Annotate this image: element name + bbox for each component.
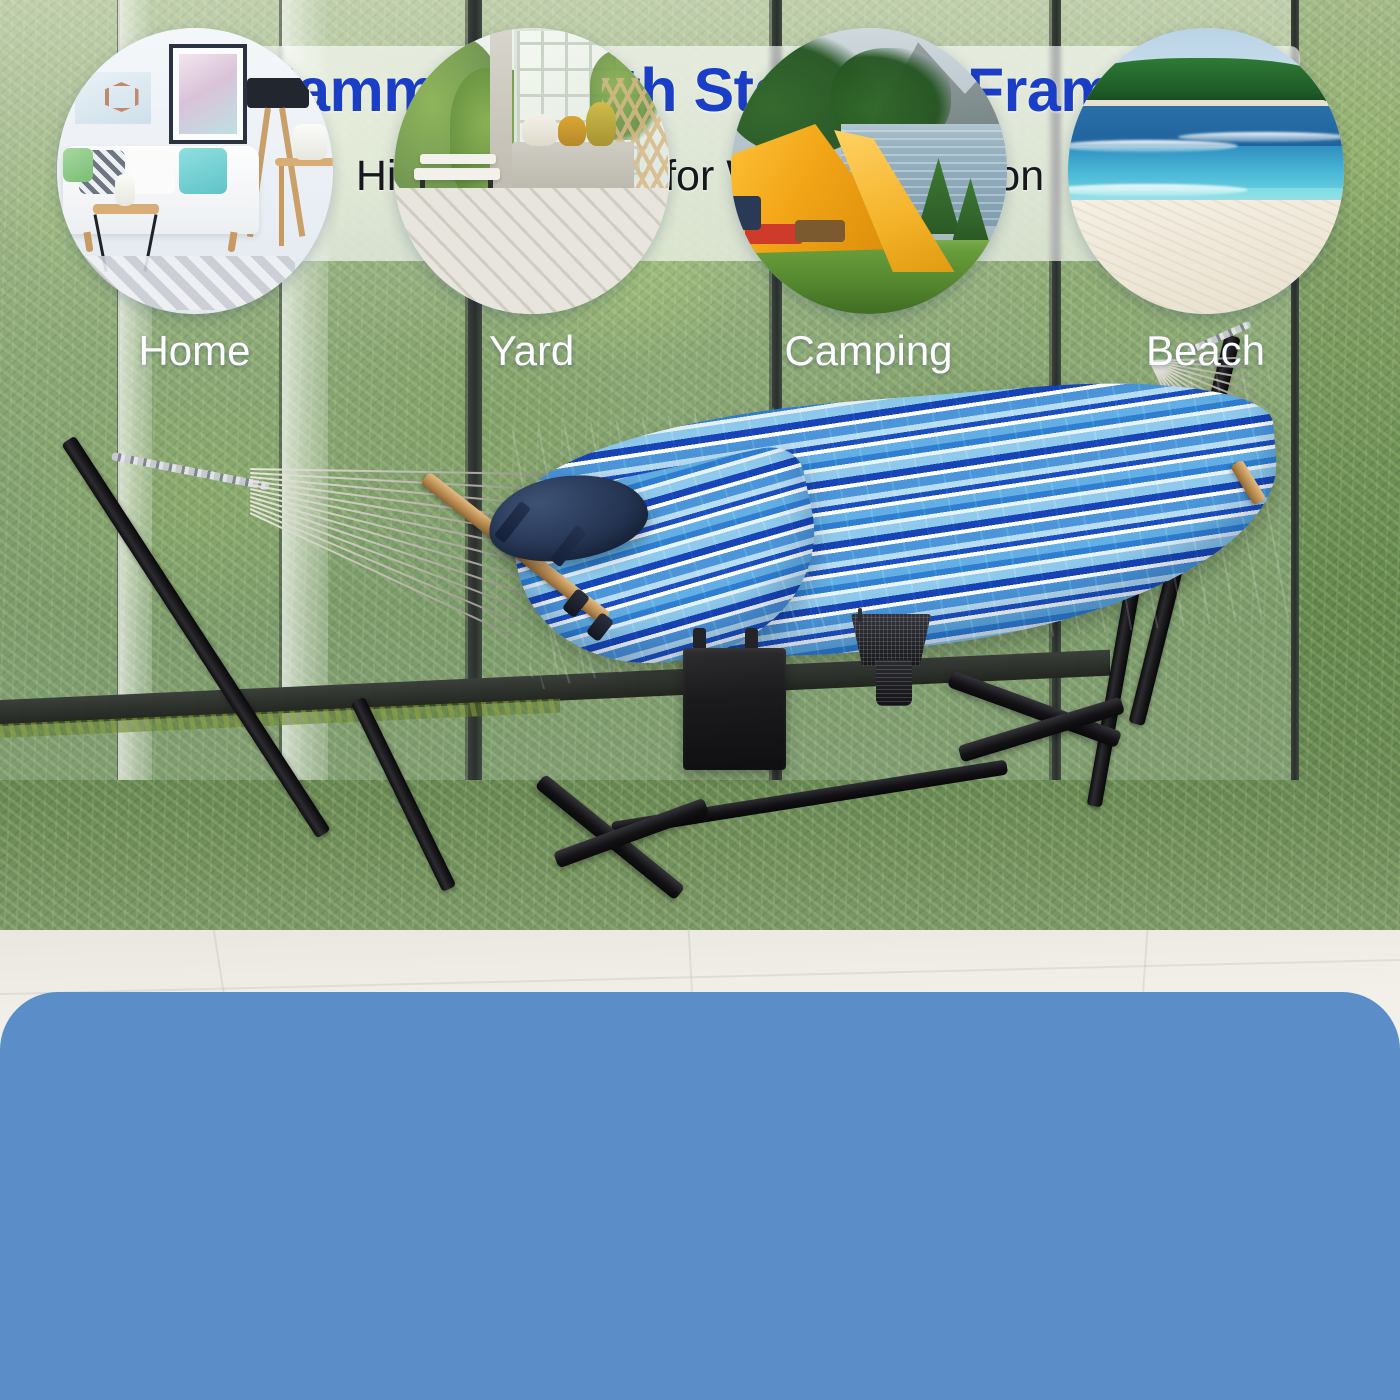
use-case-label-yard: Yard	[489, 330, 575, 372]
product-marketing-image: Hammock with Standing Frame Highly Pract…	[0, 0, 1400, 1400]
use-case-yard[interactable]: Yard	[382, 28, 682, 372]
pouch-tab-right	[745, 628, 758, 650]
use-case-home[interactable]: Home	[45, 28, 345, 372]
use-case-row: Home	[0, 0, 1400, 408]
hanging-chain-left	[111, 452, 270, 490]
use-case-beach[interactable]: Beach	[1056, 28, 1356, 372]
use-case-image-camping	[731, 28, 1007, 314]
storage-pouch	[683, 648, 786, 770]
use-case-label-beach: Beach	[1146, 330, 1265, 372]
use-case-camping[interactable]: Camping	[719, 28, 1019, 372]
cup-holder-sleeve	[876, 660, 912, 706]
cup-holder-strap	[858, 608, 862, 622]
use-case-banner	[0, 992, 1400, 1400]
use-case-label-home: Home	[138, 330, 250, 372]
stand-left-pole-lower	[351, 697, 457, 892]
use-case-image-home	[57, 28, 333, 314]
use-case-image-beach	[1068, 28, 1344, 314]
use-case-label-camping: Camping	[784, 330, 952, 372]
pouch-tab-left	[693, 628, 706, 650]
cup-holder-mesh	[851, 614, 931, 666]
use-case-image-yard	[394, 28, 670, 314]
